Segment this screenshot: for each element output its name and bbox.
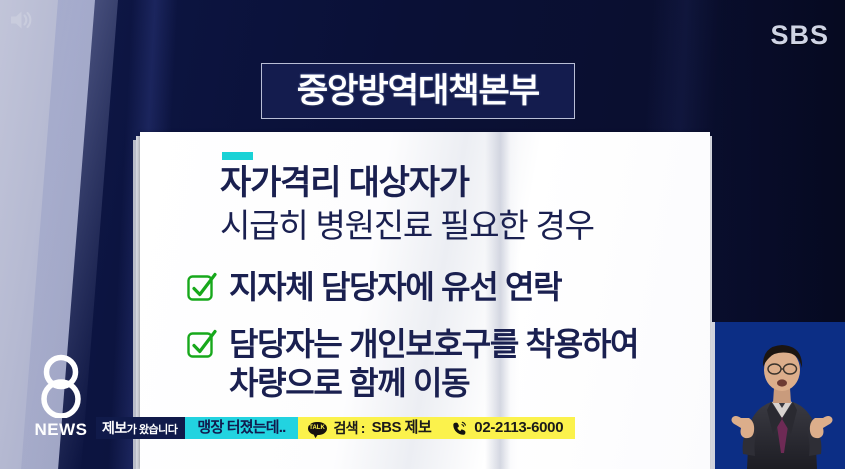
ticker-category: 제보 가 왔습니다 (96, 417, 185, 439)
ticker-search-keyword: SBS 제보 (372, 417, 432, 439)
checkbox-checked-icon (186, 271, 218, 303)
ticker-category-strong: 제보 (102, 417, 127, 439)
program-logo: NEWS (31, 352, 91, 440)
title-banner-text: 중앙방역대책본부 (297, 74, 539, 108)
sbs-logo: SBS (770, 20, 829, 51)
kakaotalk-icon: TALK (308, 422, 327, 435)
slide-headline-line2: 시급히 병원진료 필요한 경우 (220, 207, 594, 245)
sign-language-interpreter-inset (712, 322, 845, 469)
list-item-label: 지자체 담당자에 유선 연락 (229, 268, 561, 307)
eight-numeral-icon (31, 352, 91, 418)
title-banner: 중앙방역대책본부 (261, 63, 575, 119)
program-logo-label: NEWS (31, 420, 91, 440)
news-ticker: 제보 가 왔습니다 맹장 터졌는데.. TALK 검색 : SBS 제보 02-… (96, 417, 575, 439)
ticker-headline: 맹장 터졌는데.. (185, 417, 297, 439)
ticker-category-weak: 가 왔습니다 (127, 419, 178, 441)
broadcast-screen: SBS 중앙방역대책본부 자가격리 대상자가 시급히 병원진료 필요한 경우 지… (0, 0, 845, 469)
ticker-search-label: 검색 : (334, 417, 365, 439)
ticker-phone-number: 02-2113-6000 (474, 417, 563, 439)
list-item-label: 담당자는 개인보호구를 착용하여 차량으로 함께 이동 (229, 325, 638, 403)
checkbox-checked-icon (186, 328, 218, 360)
list-item: 지자체 담당자에 유선 연락 (186, 268, 561, 307)
slide-headline-line1: 자가격리 대상자가 (220, 164, 469, 203)
accent-dash (222, 152, 253, 160)
speaker-icon (7, 7, 35, 33)
kakaotalk-icon-label: TALK (309, 425, 325, 431)
ticker-promo: TALK 검색 : SBS 제보 02-2113-6000 (298, 417, 576, 439)
phone-icon (452, 421, 467, 436)
list-item: 담당자는 개인보호구를 착용하여 차량으로 함께 이동 (186, 325, 638, 403)
